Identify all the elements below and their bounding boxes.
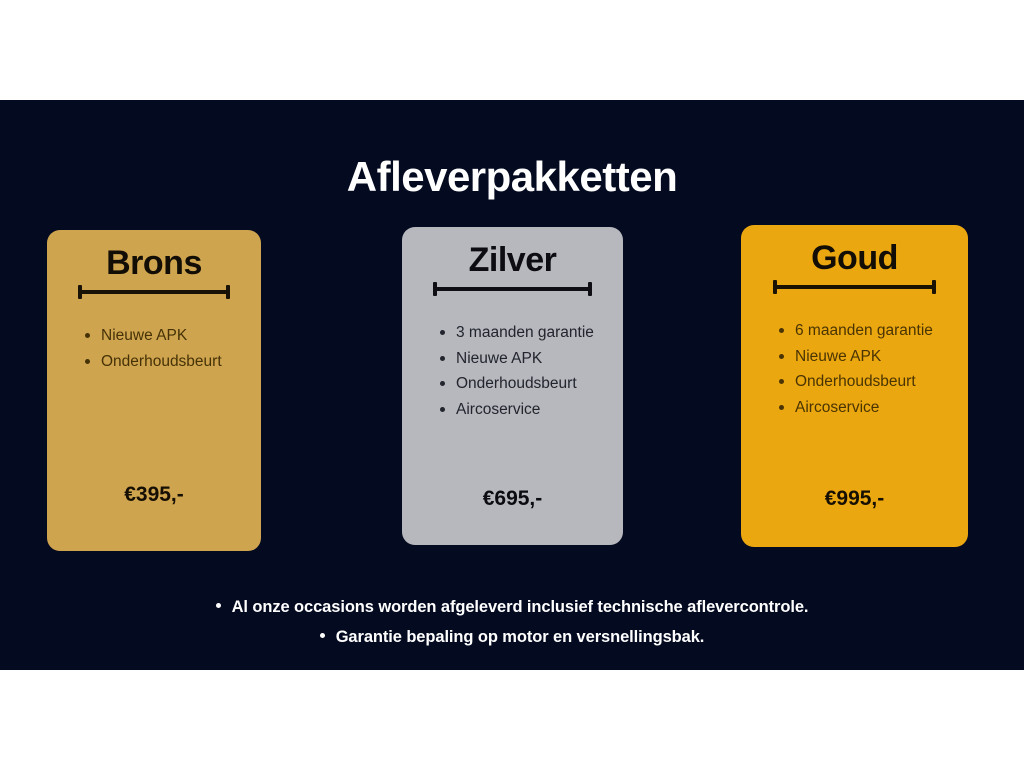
package-name-zilver: Zilver xyxy=(418,241,607,279)
ibeam-divider-icon xyxy=(433,282,592,296)
bullet-dot-icon xyxy=(216,603,221,608)
package-price-zilver: €695,- xyxy=(402,487,623,511)
package-price-goud: €995,- xyxy=(741,487,968,511)
footer-notes: Al onze occasions worden afgeleverd incl… xyxy=(0,592,1024,652)
divider-bar-icon xyxy=(773,285,937,289)
divider-bar-icon xyxy=(78,290,231,294)
list-item: Nieuwe APK xyxy=(440,346,607,372)
package-name-goud: Goud xyxy=(757,239,952,277)
footer-note: Al onze occasions worden afgeleverd incl… xyxy=(0,592,1024,622)
list-item: Aircoservice xyxy=(440,397,607,423)
list-item: Nieuwe APK xyxy=(779,344,952,370)
footer-note-text: Al onze occasions worden afgeleverd incl… xyxy=(232,598,809,616)
package-card-brons[interactable]: Brons Nieuwe APK Onderhoudsbeurt €395,- xyxy=(47,230,261,551)
list-item: 6 maanden garantie xyxy=(779,318,952,344)
divider-bar-icon xyxy=(433,287,592,291)
list-item: Onderhoudsbeurt xyxy=(440,371,607,397)
list-item: Onderhoudsbeurt xyxy=(779,369,952,395)
divider-cap-right-icon xyxy=(932,280,936,294)
package-name-brons: Brons xyxy=(63,244,245,282)
package-card-zilver[interactable]: Zilver 3 maanden garantie Nieuwe APK Ond… xyxy=(402,227,623,545)
divider-cap-right-icon xyxy=(226,285,230,299)
feature-list-brons: Nieuwe APK Onderhoudsbeurt xyxy=(63,323,245,374)
feature-list-zilver: 3 maanden garantie Nieuwe APK Onderhouds… xyxy=(418,320,607,422)
list-item: 3 maanden garantie xyxy=(440,320,607,346)
footer-note: Garantie bepaling op motor en versnellin… xyxy=(0,622,1024,652)
list-item: Nieuwe APK xyxy=(85,323,245,349)
feature-list-goud: 6 maanden garantie Nieuwe APK Onderhouds… xyxy=(757,318,952,420)
list-item: Onderhoudsbeurt xyxy=(85,349,245,375)
package-price-brons: €395,- xyxy=(47,483,261,507)
bullet-dot-icon xyxy=(320,633,325,638)
ibeam-divider-icon xyxy=(78,285,231,299)
footer-note-text: Garantie bepaling op motor en versnellin… xyxy=(336,628,705,646)
slide-canvas: Afleverpakketten Brons Nieuwe APK Onderh… xyxy=(0,0,1024,768)
list-item: Aircoservice xyxy=(779,395,952,421)
divider-cap-right-icon xyxy=(588,282,592,296)
package-card-row: Brons Nieuwe APK Onderhoudsbeurt €395,- … xyxy=(0,0,1024,768)
ibeam-divider-icon xyxy=(773,280,937,294)
package-card-goud[interactable]: Goud 6 maanden garantie Nieuwe APK Onder… xyxy=(741,225,968,547)
